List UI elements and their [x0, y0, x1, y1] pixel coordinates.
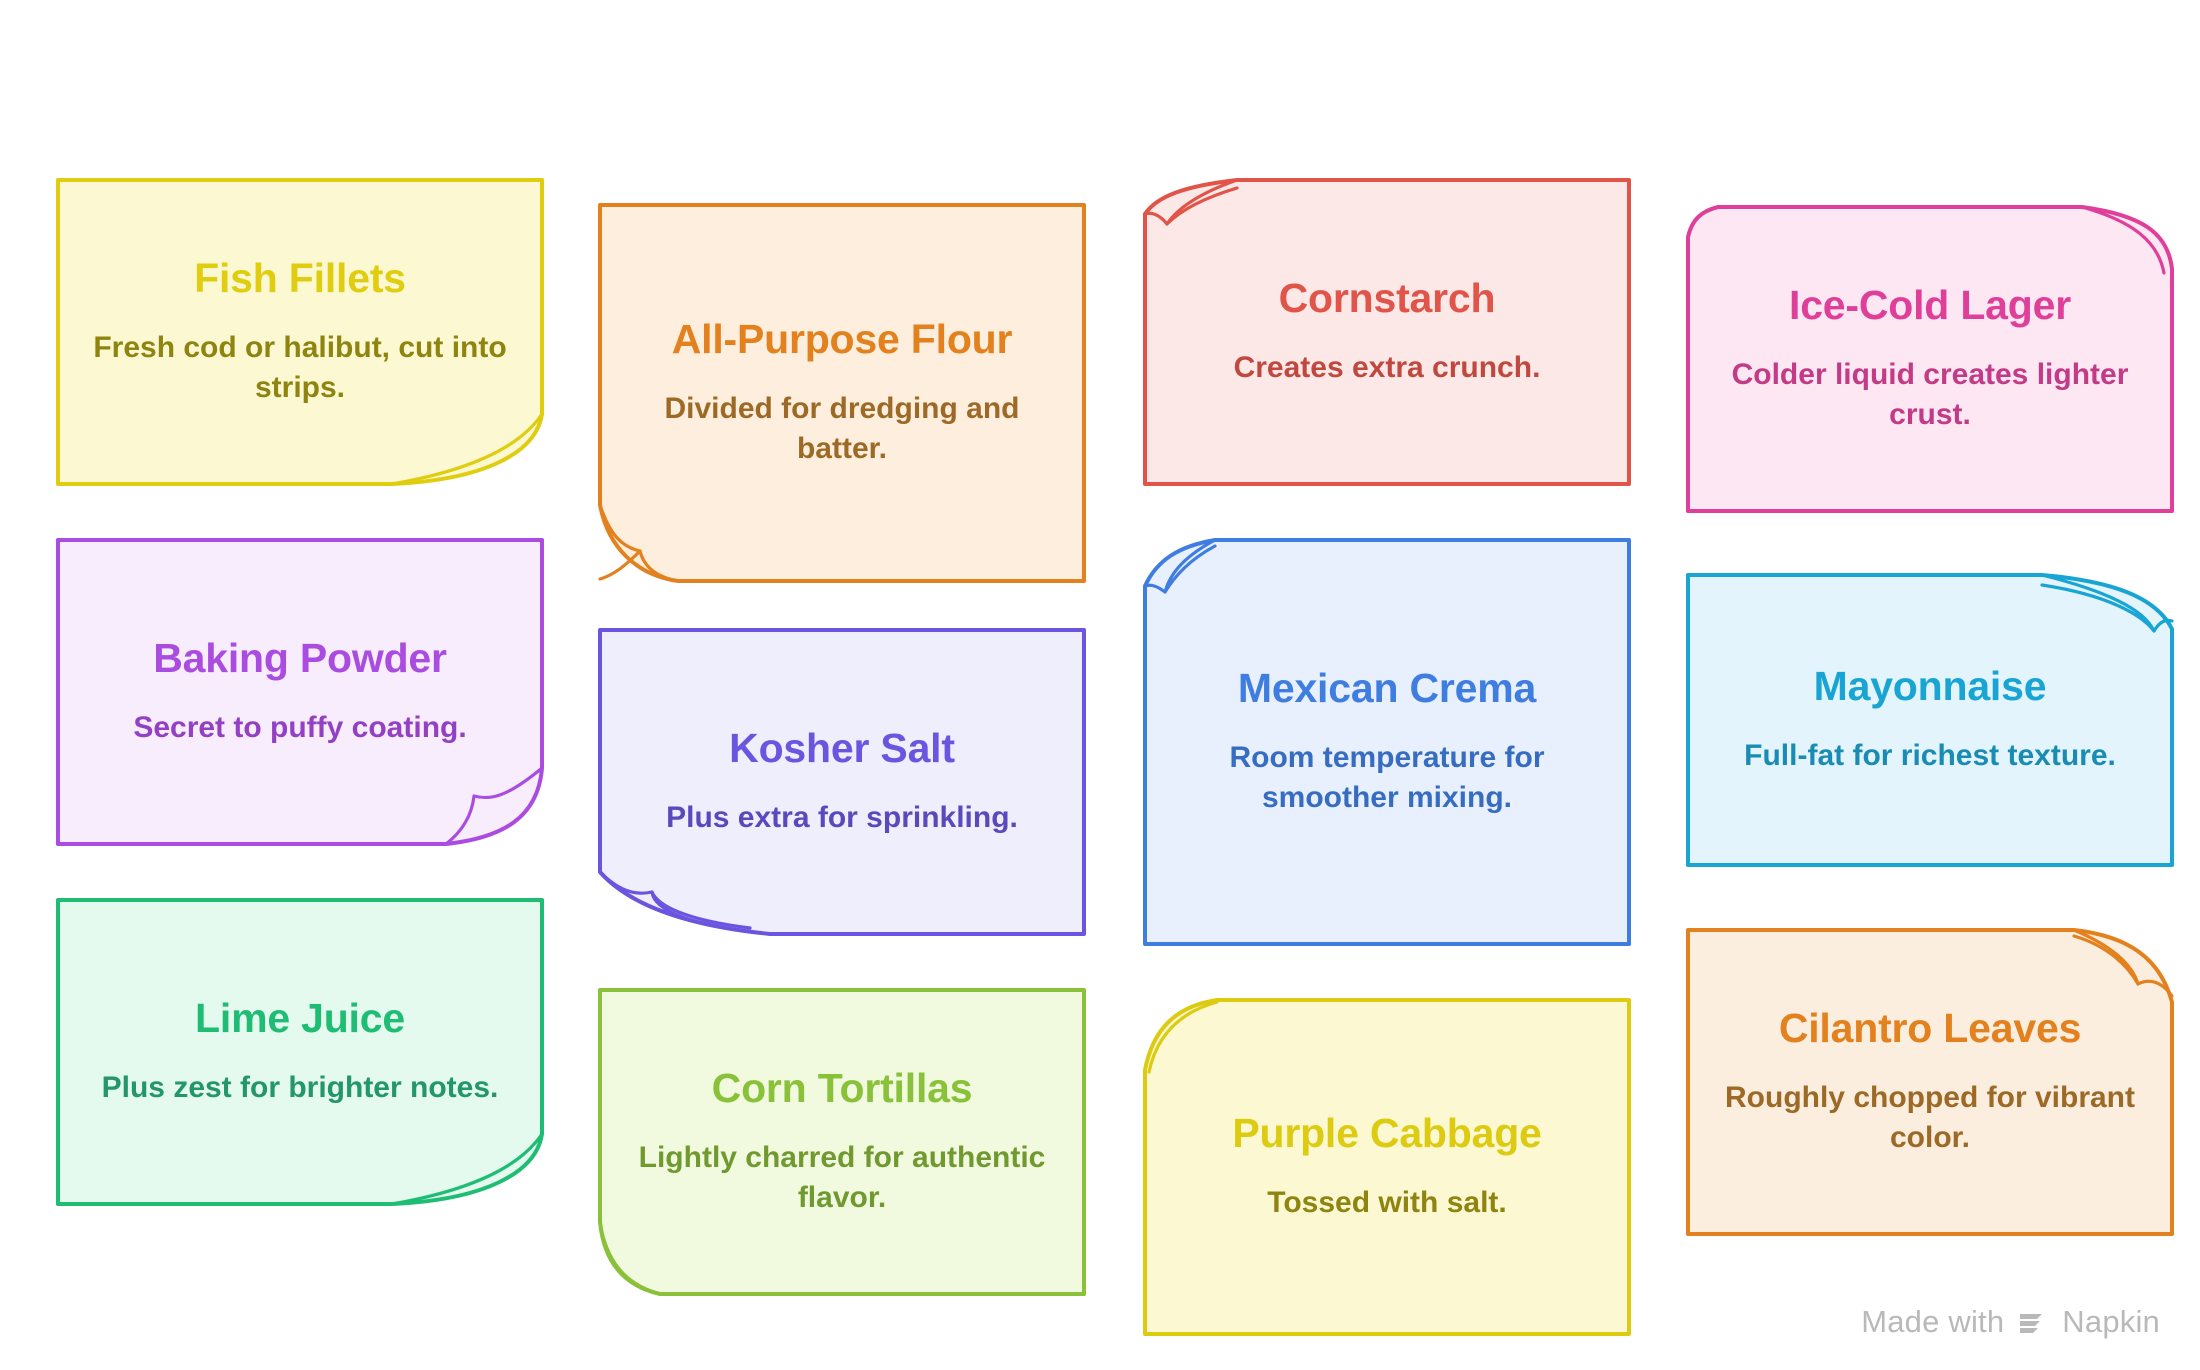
- napkin-logo-icon: [2016, 1305, 2050, 1339]
- sticky-note-ice-cold-lager[interactable]: Ice-Cold LagerColder liquid creates ligh…: [1688, 207, 2172, 511]
- sticky-note-title: Mexican Crema: [1238, 666, 1536, 712]
- sticky-note-description: Full-fat for richest texture.: [1744, 736, 2116, 776]
- sticky-note-description: Colder liquid creates lighter crust.: [1722, 355, 2138, 434]
- sticky-note-content: Cilantro LeavesRoughly chopped for vibra…: [1688, 1006, 2172, 1157]
- sticky-note-title: Fish Fillets: [194, 256, 406, 302]
- sticky-note-fold-line-2: [640, 551, 678, 581]
- sticky-note-description: Creates extra crunch.: [1234, 348, 1541, 388]
- sticky-note-fold-line-1: [2042, 575, 2172, 631]
- sticky-note-fold-line-2: [652, 892, 750, 928]
- sticky-note-title: Kosher Salt: [729, 726, 955, 772]
- sticky-note-fold-line-1: [600, 1222, 660, 1294]
- sticky-note-kosher-salt[interactable]: Kosher SaltPlus extra for sprinkling.: [600, 630, 1084, 934]
- sticky-note-title: Lime Juice: [195, 996, 405, 1042]
- sticky-note-fish-fillets[interactable]: Fish FilletsFresh cod or halibut, cut in…: [58, 180, 542, 484]
- sticky-note-title: Cornstarch: [1279, 276, 1496, 322]
- sticky-note-title: Corn Tortillas: [712, 1066, 973, 1112]
- sticky-note-title: Cilantro Leaves: [1779, 1006, 2081, 1052]
- sticky-note-content: CornstarchCreates extra crunch.: [1145, 276, 1629, 388]
- sticky-note-content: All-Purpose FlourDivided for dredging an…: [600, 317, 1084, 468]
- sticky-note-description: Roughly chopped for vibrant color.: [1722, 1078, 2138, 1157]
- sticky-note-all-purpose-flour[interactable]: All-Purpose FlourDivided for dredging an…: [600, 205, 1084, 581]
- sticky-note-fold-line-2: [2074, 936, 2138, 984]
- sticky-note-content: Corn TortillasLightly charred for authen…: [600, 1066, 1084, 1217]
- sticky-note-fold-line-2: [2042, 585, 2154, 631]
- sticky-note-mexican-crema[interactable]: Mexican CremaRoom temperature for smooth…: [1145, 540, 1629, 944]
- sticky-note-content: Fish FilletsFresh cod or halibut, cut in…: [58, 256, 542, 407]
- sticky-note-fold-line-2: [1167, 188, 1237, 224]
- sticky-note-title: Purple Cabbage: [1232, 1111, 1541, 1157]
- sticky-note-cornstarch[interactable]: CornstarchCreates extra crunch.: [1145, 180, 1629, 484]
- sticky-note-description: Fresh cod or halibut, cut into strips.: [92, 328, 508, 407]
- sticky-note-lime-juice[interactable]: Lime JuicePlus zest for brighter notes.: [58, 900, 542, 1204]
- sticky-note-description: Plus zest for brighter notes.: [102, 1068, 499, 1108]
- sticky-note-mayonnaise[interactable]: MayonnaiseFull-fat for richest texture.: [1688, 575, 2172, 865]
- sticky-note-cilantro-leaves[interactable]: Cilantro LeavesRoughly chopped for vibra…: [1688, 930, 2172, 1234]
- sticky-note-fold-line-1: [392, 1134, 542, 1204]
- sticky-note-content: Kosher SaltPlus extra for sprinkling.: [600, 726, 1084, 838]
- sticky-note-fold-line-1: [600, 872, 770, 934]
- sticky-note-description: Tossed with salt.: [1267, 1183, 1507, 1223]
- sticky-note-title: Ice-Cold Lager: [1789, 283, 2071, 329]
- sticky-note-description: Room temperature for smoother mixing.: [1179, 738, 1595, 817]
- watermark-brand-label: Napkin: [2062, 1304, 2160, 1340]
- sticky-note-fold-line-1: [2074, 930, 2172, 996]
- sticky-note-title: Baking Powder: [153, 636, 447, 682]
- sticky-note-content: MayonnaiseFull-fat for richest texture.: [1688, 664, 2172, 776]
- sticky-note-fold-line-1: [2082, 207, 2164, 273]
- sticky-note-title: All-Purpose Flour: [672, 317, 1013, 363]
- sticky-note-title: Mayonnaise: [1814, 664, 2047, 710]
- sticky-note-fold-line-1: [392, 414, 542, 484]
- sticky-note-fold-line-1: [446, 768, 542, 844]
- sticky-note-description: Secret to puffy coating.: [133, 708, 466, 748]
- sticky-note-content: Ice-Cold LagerColder liquid creates ligh…: [1688, 283, 2172, 434]
- napkin-watermark: Made with Napkin: [1861, 1304, 2160, 1340]
- sticky-note-baking-powder[interactable]: Baking PowderSecret to puffy coating.: [58, 540, 542, 844]
- sticky-note-fold-line-1: [1145, 540, 1215, 592]
- watermark-prefix-label: Made with: [1861, 1304, 2004, 1340]
- sticky-note-fold-line-1: [600, 505, 640, 579]
- sticky-note-fold-line-1: [1149, 1002, 1217, 1072]
- sticky-note-description: Lightly charred for authentic flavor.: [634, 1138, 1050, 1217]
- sticky-note-fold-line-1: [1145, 180, 1237, 224]
- sticky-note-description: Plus extra for sprinkling.: [666, 798, 1018, 838]
- sticky-note-content: Purple CabbageTossed with salt.: [1145, 1111, 1629, 1223]
- sticky-note-content: Mexican CremaRoom temperature for smooth…: [1145, 666, 1629, 817]
- sticky-note-content: Baking PowderSecret to puffy coating.: [58, 636, 542, 748]
- sticky-note-description: Divided for dredging and batter.: [634, 389, 1050, 468]
- sticky-note-purple-cabbage[interactable]: Purple CabbageTossed with salt.: [1145, 1000, 1629, 1334]
- sticky-note-fold-line-2: [1165, 546, 1215, 592]
- sticky-note-board: Fish FilletsFresh cod or halibut, cut in…: [0, 0, 2200, 1370]
- sticky-note-corn-tortillas[interactable]: Corn TortillasLightly charred for authen…: [600, 990, 1084, 1294]
- sticky-note-content: Lime JuicePlus zest for brighter notes.: [58, 996, 542, 1108]
